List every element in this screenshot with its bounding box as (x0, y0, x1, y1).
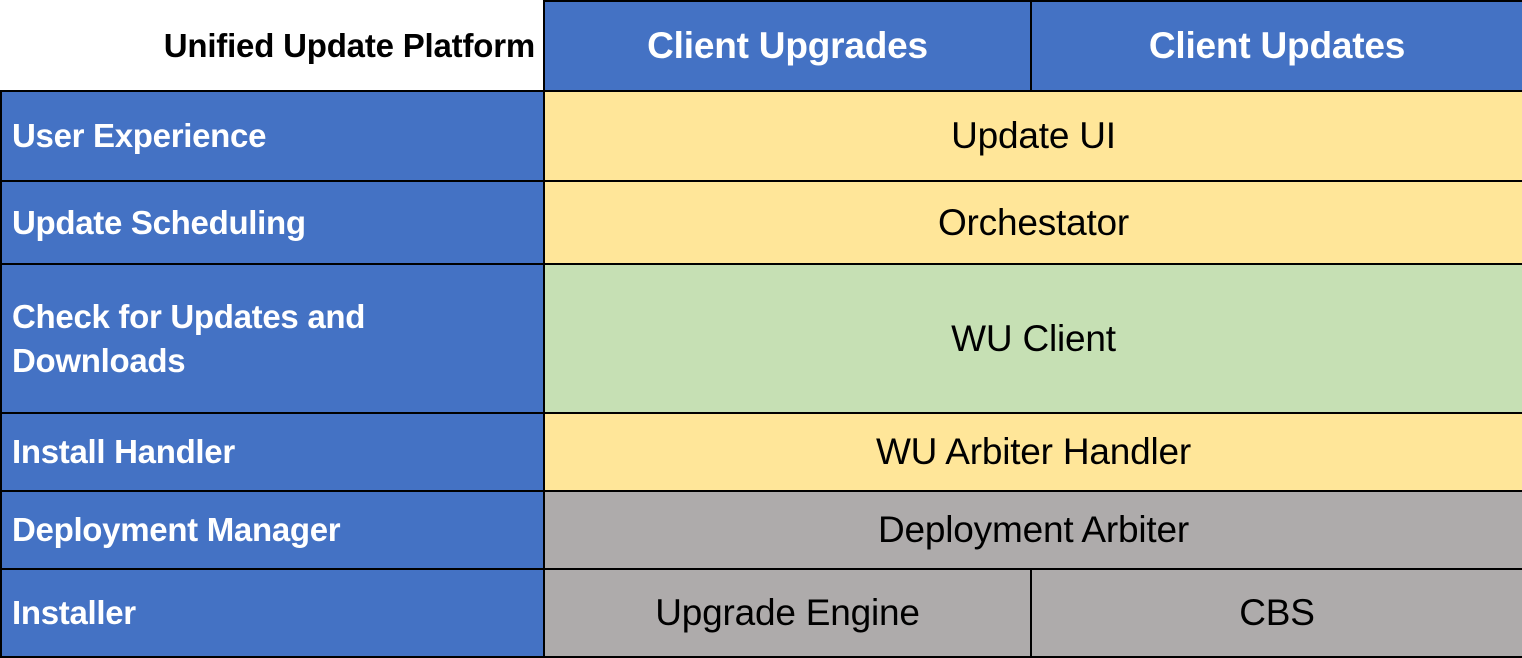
table-header-row: Unified Update Platform Client Upgrades … (1, 1, 1522, 91)
table-row: User Experience Update UI (1, 91, 1522, 181)
row-label-check-for-updates-and-downloads: Check for Updates and Downloads (1, 264, 544, 413)
row-label-installer: Installer (1, 569, 544, 657)
cell-wu-client: WU Client (544, 264, 1522, 413)
row-label-deployment-manager: Deployment Manager (1, 491, 544, 569)
cell-update-ui: Update UI (544, 91, 1522, 181)
table-row: Update Scheduling Orchestator (1, 181, 1522, 264)
table-body: Unified Update Platform Client Upgrades … (1, 1, 1522, 657)
cell-cbs: CBS (1031, 569, 1522, 657)
column-header-client-upgrades: Client Upgrades (544, 1, 1031, 91)
cell-upgrade-engine: Upgrade Engine (544, 569, 1031, 657)
table-row: Check for Updates and Downloads WU Clien… (1, 264, 1522, 413)
table-row: Installer Upgrade Engine CBS (1, 569, 1522, 657)
row-label-line-1: Check for Updates and (12, 295, 543, 339)
table-row: Deployment Manager Deployment Arbiter (1, 491, 1522, 569)
table-row: Install Handler WU Arbiter Handler (1, 413, 1522, 491)
cell-wu-arbiter-handler: WU Arbiter Handler (544, 413, 1522, 491)
cell-orchestator: Orchestator (544, 181, 1522, 264)
row-label-user-experience: User Experience (1, 91, 544, 181)
column-header-client-updates: Client Updates (1031, 1, 1522, 91)
row-label-update-scheduling: Update Scheduling (1, 181, 544, 264)
cell-deployment-arbiter: Deployment Arbiter (544, 491, 1522, 569)
row-label-line-2: Downloads (12, 339, 543, 383)
unified-update-platform-table: Unified Update Platform Client Upgrades … (0, 0, 1522, 658)
row-label-install-handler: Install Handler (1, 413, 544, 491)
page-title: Unified Update Platform (1, 1, 544, 91)
